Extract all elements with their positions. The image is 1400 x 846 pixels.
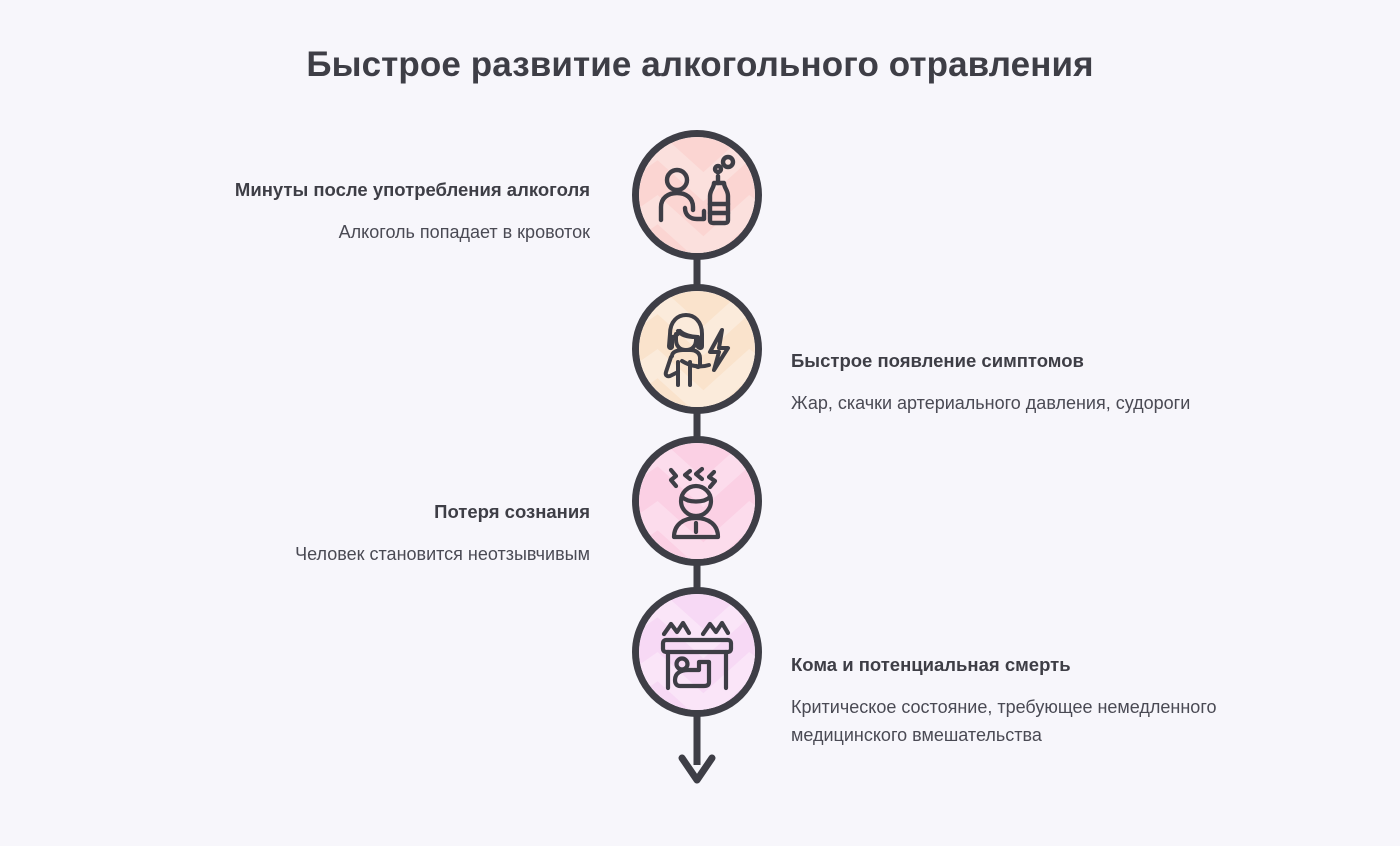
- step-4-text: Кома и потенциальная смерть Критическое …: [791, 652, 1261, 750]
- timeline-node-3[interactable]: [632, 436, 762, 566]
- step-3-heading: Потеря сознания: [170, 499, 590, 525]
- timeline-node-2[interactable]: [632, 284, 762, 414]
- step-3-description: Человек становится неотзывчивым: [170, 541, 590, 569]
- step-1-text: Минуты после употребления алкоголя Алког…: [170, 177, 590, 247]
- node-1-glyph: [639, 137, 755, 253]
- step-2-description: Жар, скачки артериального давления, судо…: [791, 390, 1261, 418]
- hospital-bed-coma-icon: [651, 606, 743, 698]
- timeline: [630, 130, 765, 790]
- infographic-page: Быстрое развитие алкогольного отравления: [0, 0, 1400, 846]
- step-3-text: Потеря сознания Человек становится неотз…: [170, 499, 590, 569]
- step-2-text: Быстрое появление симптомов Жар, скачки …: [791, 348, 1261, 418]
- timeline-node-4[interactable]: [632, 587, 762, 717]
- node-2-glyph: [639, 291, 755, 407]
- node-4-glyph: [639, 594, 755, 710]
- step-4-description: Критическое состояние, требующее немедле…: [791, 694, 1261, 750]
- person-lightning-symptoms-icon: [652, 304, 742, 394]
- step-1-description: Алкоголь попадает в кровоток: [170, 219, 590, 247]
- person-drinking-bottle-icon: [652, 150, 742, 240]
- node-3-glyph: [639, 443, 755, 559]
- step-2-heading: Быстрое появление симптомов: [791, 348, 1261, 374]
- timeline-node-1[interactable]: [632, 130, 762, 260]
- page-title: Быстрое развитие алкогольного отравления: [0, 44, 1400, 86]
- step-4-heading: Кома и потенциальная смерть: [791, 652, 1261, 678]
- step-1-heading: Минуты после употребления алкоголя: [170, 177, 590, 203]
- unconscious-person-dizzy-icon: [652, 456, 742, 546]
